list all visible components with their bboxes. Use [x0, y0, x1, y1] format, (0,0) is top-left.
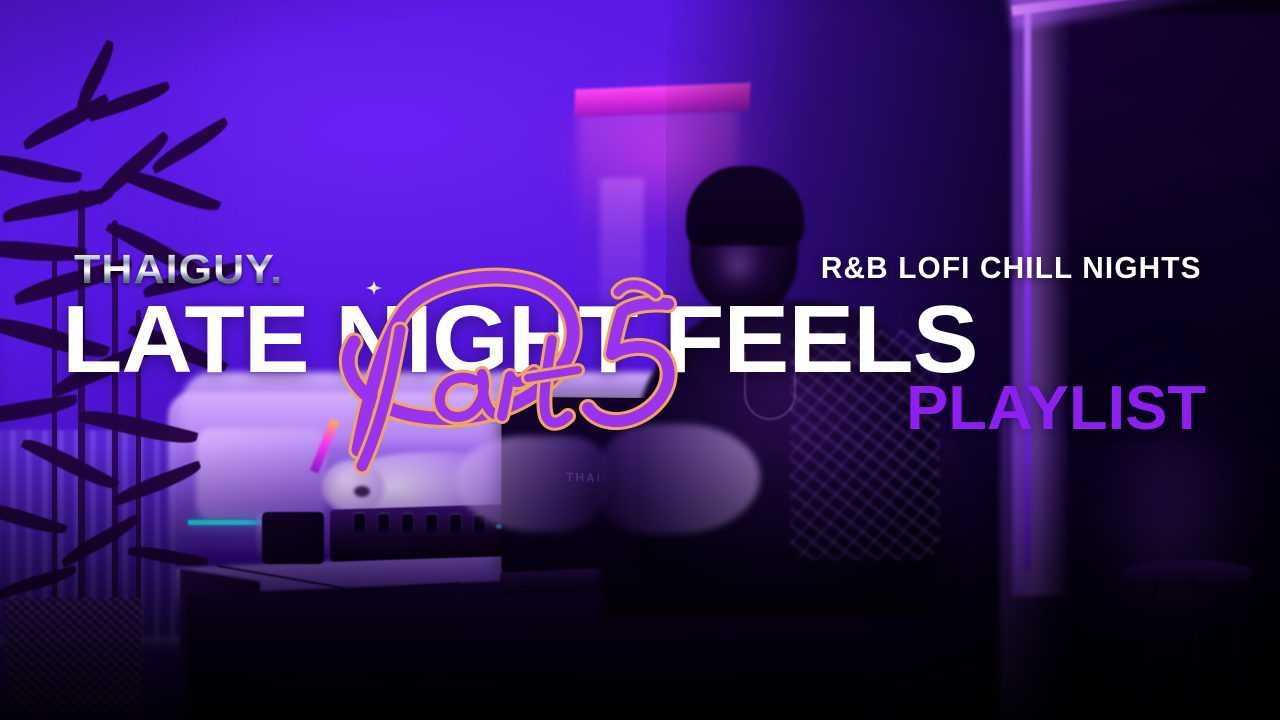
kicker-text: R&B LOFI CHILL NIGHTS — [821, 252, 1202, 283]
title-overlay: THAIGUY. R&B LOFI CHILL NIGHTS LATE NIGH… — [0, 0, 1280, 720]
video-thumbnail: THAIGUY THAIGUY. R&B LOFI CHILL NIGHTS L… — [0, 0, 1280, 720]
brand-logo: THAIGUY. — [74, 249, 283, 290]
page-title: LATE NIGHT FEELS — [62, 296, 978, 384]
playlist-label: PLAYLIST — [906, 378, 1206, 440]
